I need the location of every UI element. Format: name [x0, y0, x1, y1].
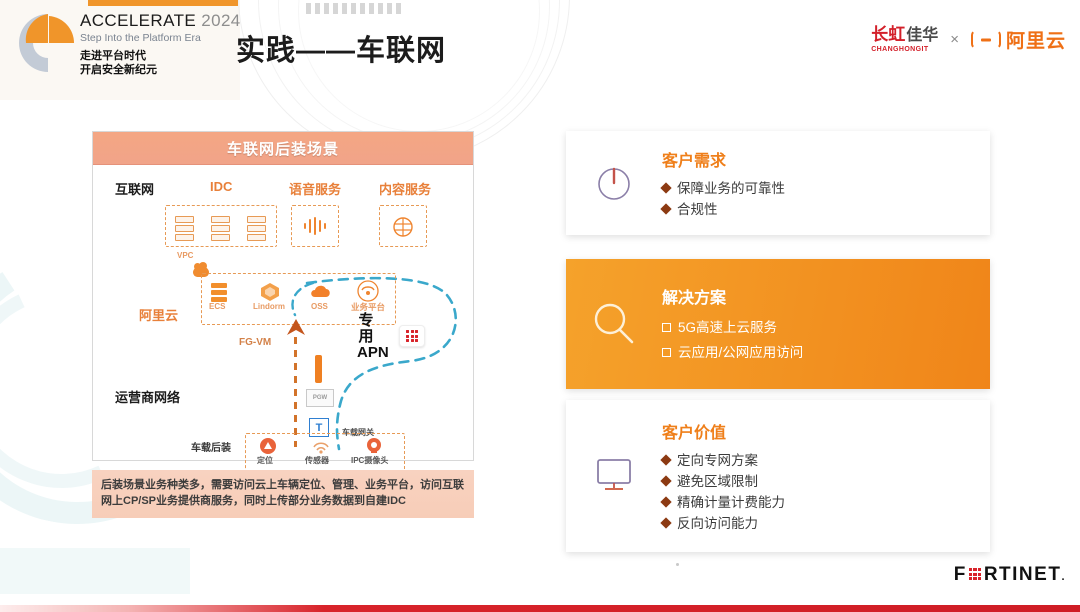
card-body: 客户需求 保障业务的可靠性 合规性 [662, 147, 797, 220]
list-item: 反向访问能力 [662, 513, 785, 534]
diagram-caption-text: 后装场景业务种类多，需要访问云上车辆定位、管理、业务平台，访问互联网上CP/SP… [101, 477, 465, 509]
biz-platform-icon [355, 279, 381, 303]
alibaba-cloud-logo: 阿里云 [971, 26, 1066, 53]
list-item-label: 合规性 [677, 199, 718, 220]
changhong-cn-gray: 佳华 [906, 28, 938, 44]
oss-storage-icon [309, 281, 333, 303]
list-item: 避免区域限制 [662, 471, 785, 492]
server-rack-icon [175, 216, 194, 238]
label-vpc: VPC [177, 251, 193, 260]
card-body: 解决方案 5G高速上云服务 云应用/公网应用访问 [662, 284, 815, 365]
card-title: 解决方案 [662, 284, 803, 308]
list-item-label: 云应用/公网应用访问 [678, 340, 803, 365]
pgw-node: PGW [306, 389, 334, 407]
logo-accelerate-text: ACCELERATE [80, 11, 196, 30]
fortigate-device-icon [399, 325, 425, 347]
label-idc: IDC [210, 179, 232, 194]
label-aftermarket: 车载后装 [191, 439, 231, 454]
accelerate-logo: ACCELERATE 2024 Step Into the Platform E… [18, 8, 243, 86]
diamond-bullet-icon [660, 496, 671, 507]
card-title: 客户价值 [662, 419, 785, 443]
list-item-label: 精确计量计费能力 [677, 492, 785, 513]
fortinet-logo: F RTINET. [954, 564, 1066, 586]
label-oss: OSS [311, 302, 328, 311]
card-solution[interactable]: 解决方案 5G高速上云服务 云应用/公网应用访问 [566, 259, 990, 389]
diagram-title: 车联网后装场景 [227, 138, 339, 159]
diamond-bullet-icon [660, 475, 671, 486]
sensor-wifi-icon [311, 437, 331, 455]
card-bullet-list: 5G高速上云服务 云应用/公网应用访问 [662, 315, 803, 365]
label-alicloud: 阿里云 [139, 305, 178, 324]
logo-tagline-en: Step Into the Platform Era [80, 31, 241, 45]
list-item: 保障业务的可靠性 [662, 178, 785, 199]
card-title: 客户需求 [662, 147, 785, 171]
card-bullet-list: 定向专网方案 避免区域限制 精确计量计费能力 反向访问能力 [662, 450, 785, 534]
content-globe-icon [391, 215, 415, 239]
square-bullet-icon [662, 323, 671, 332]
diamond-bullet-icon [660, 182, 671, 193]
label-carrier-network: 运营商网络 [115, 387, 180, 406]
list-item: 云应用/公网应用访问 [662, 340, 803, 365]
accelerate-arc-logo-icon [18, 10, 74, 76]
card-customer-needs[interactable]: 客户需求 保障业务的可靠性 合规性 [566, 131, 990, 235]
fortinet-wordmark: F RTINET. [954, 564, 1066, 586]
server-rack-icon [211, 216, 230, 238]
list-item-label: 5G高速上云服务 [678, 315, 777, 340]
magnifier-icon [566, 297, 662, 351]
changhong-cn-red: 长虹 [871, 26, 905, 43]
bg-bottom-band [0, 548, 190, 594]
list-item: 5G高速上云服务 [662, 315, 803, 340]
card-customer-value[interactable]: 客户价值 定向专网方案 避免区域限制 精确计量计费能力 反向访问能力 [566, 400, 990, 552]
voice-waveform-icon [301, 216, 329, 236]
card-body: 客户价值 定向专网方案 避免区域限制 精确计量计费能力 反向访问能力 [662, 419, 797, 534]
footer-red-bar [0, 605, 1080, 612]
label-dedicated-apn: 专用APN [357, 313, 375, 361]
list-item: 精确计量计费能力 [662, 492, 785, 513]
gps-antenna-icon [259, 437, 277, 455]
label-fg-vm: FG-VM [239, 337, 271, 348]
list-item-label: 定向专网方案 [677, 450, 758, 471]
label-ecs: ECS [209, 302, 225, 311]
list-item: 定向专网方案 [662, 450, 785, 471]
carrier-dashed-line [294, 337, 297, 447]
list-item-label: 反向访问能力 [677, 513, 758, 534]
slide-root: ACCELERATE 2024 Step Into the Platform E… [0, 0, 1080, 612]
logo-tagline-cn-1: 走进平台时代 [80, 49, 241, 63]
top-dots-decoration [306, 3, 401, 14]
label-voice-service: 语音服务 [289, 179, 341, 198]
list-item: 合规性 [662, 199, 785, 220]
label-ipc-camera: IPC摄像头 [351, 455, 388, 466]
brand-separator: × [950, 31, 959, 48]
footer-dot-decoration [676, 563, 679, 566]
diamond-bullet-icon [660, 454, 671, 465]
alibaba-cloud-icon [971, 30, 1001, 49]
diagram-canvas: 互联网 IDC 语音服务 内容服务 阿里云 运营商网络 车载后装 [93, 165, 473, 462]
diamond-bullet-icon [660, 517, 671, 528]
label-positioning: 定位 [257, 455, 273, 466]
changhong-en: CHANGHONGIT [871, 46, 928, 53]
logo-tagline-cn-2: 开启安全新纪元 [80, 63, 241, 77]
label-sensor: 传感器 [305, 455, 329, 466]
card-bullet-list: 保障业务的可靠性 合规性 [662, 178, 785, 220]
label-lindorm: Lindorm [253, 302, 285, 311]
header-orange-bar [88, 0, 238, 6]
list-item-label: 保障业务的可靠性 [677, 178, 785, 199]
ecs-server-icon [209, 281, 229, 303]
carrier-orange-bar [315, 355, 322, 383]
diamond-bullet-icon [660, 203, 671, 214]
brand-lockup: 长虹 佳华 CHANGHONGIT × 阿里云 [871, 26, 1066, 53]
server-rack-icon [247, 216, 266, 238]
fortinet-logo-icon [968, 567, 983, 582]
diagram-title-bar: 车联网后装场景 [93, 132, 473, 165]
diagram-caption: 后装场景业务种类多，需要访问云上车辆定位、管理、业务平台，访问互联网上CP/SP… [92, 470, 474, 518]
monitor-icon [566, 454, 662, 498]
power-button-icon [566, 161, 662, 205]
label-internet: 互联网 [115, 179, 154, 198]
label-content-service: 内容服务 [379, 179, 431, 198]
lindorm-database-icon [259, 281, 281, 303]
logo-year-text: 2024 [201, 11, 240, 30]
square-bullet-icon [662, 348, 671, 357]
list-item-label: 避免区域限制 [677, 471, 758, 492]
ipc-camera-icon [365, 437, 383, 455]
page-title: 实践——车联网 [236, 27, 446, 69]
alibaba-cloud-text: 阿里云 [1006, 26, 1066, 53]
fortigate-vm-icon [285, 317, 307, 339]
scenario-diagram-panel: 车联网后装场景 互联网 IDC 语音服务 内容服务 阿里云 运营商网络 车载后装 [92, 131, 474, 461]
changhong-logo: 长虹 佳华 CHANGHONGIT [871, 26, 938, 53]
